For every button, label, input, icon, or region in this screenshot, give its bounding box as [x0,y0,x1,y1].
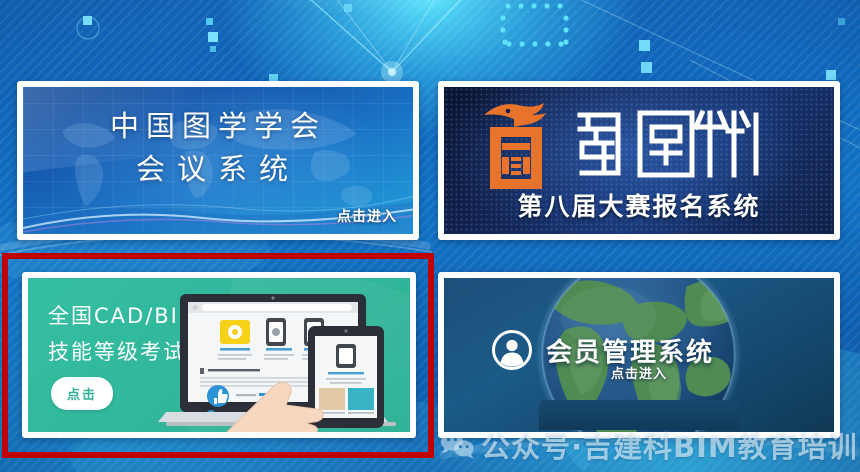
conference-title: 中国图学学会 会议系统 [23,105,413,191]
dragon-cup-seal-text [574,105,764,187]
card-cad-bim-exam[interactable]: 全国CAD/BIM 技能等级考试 点击 [22,272,416,438]
member-header-row: 会员管理系统 [492,330,714,370]
cad-click-button[interactable]: 点击 [51,377,113,410]
conference-enter-label[interactable]: 点击进入 [337,206,397,226]
member-enter-label[interactable]: 点击进入 [611,363,667,382]
card-dragon-cup-registration[interactable]: 第八届大赛报名系统 [438,81,840,240]
card-conference-system[interactable]: 中国图学学会 会议系统 点击进入 [17,81,419,240]
page-root: 中国图学学会 会议系统 点击进入 [0,0,860,472]
conference-title-line2: 会议系统 [23,148,413,191]
laptop-tablet-hand-illustration [156,286,410,432]
user-circle-icon [492,330,532,370]
card-member-management[interactable]: 会员管理系统 点击进入 [438,272,840,438]
member-footer-plate [539,400,739,430]
longtubei-logo-icon [478,97,570,195]
cup-caption: 第八届大赛报名系统 [444,187,834,223]
conference-title-line1: 中国图学学会 [23,105,413,148]
